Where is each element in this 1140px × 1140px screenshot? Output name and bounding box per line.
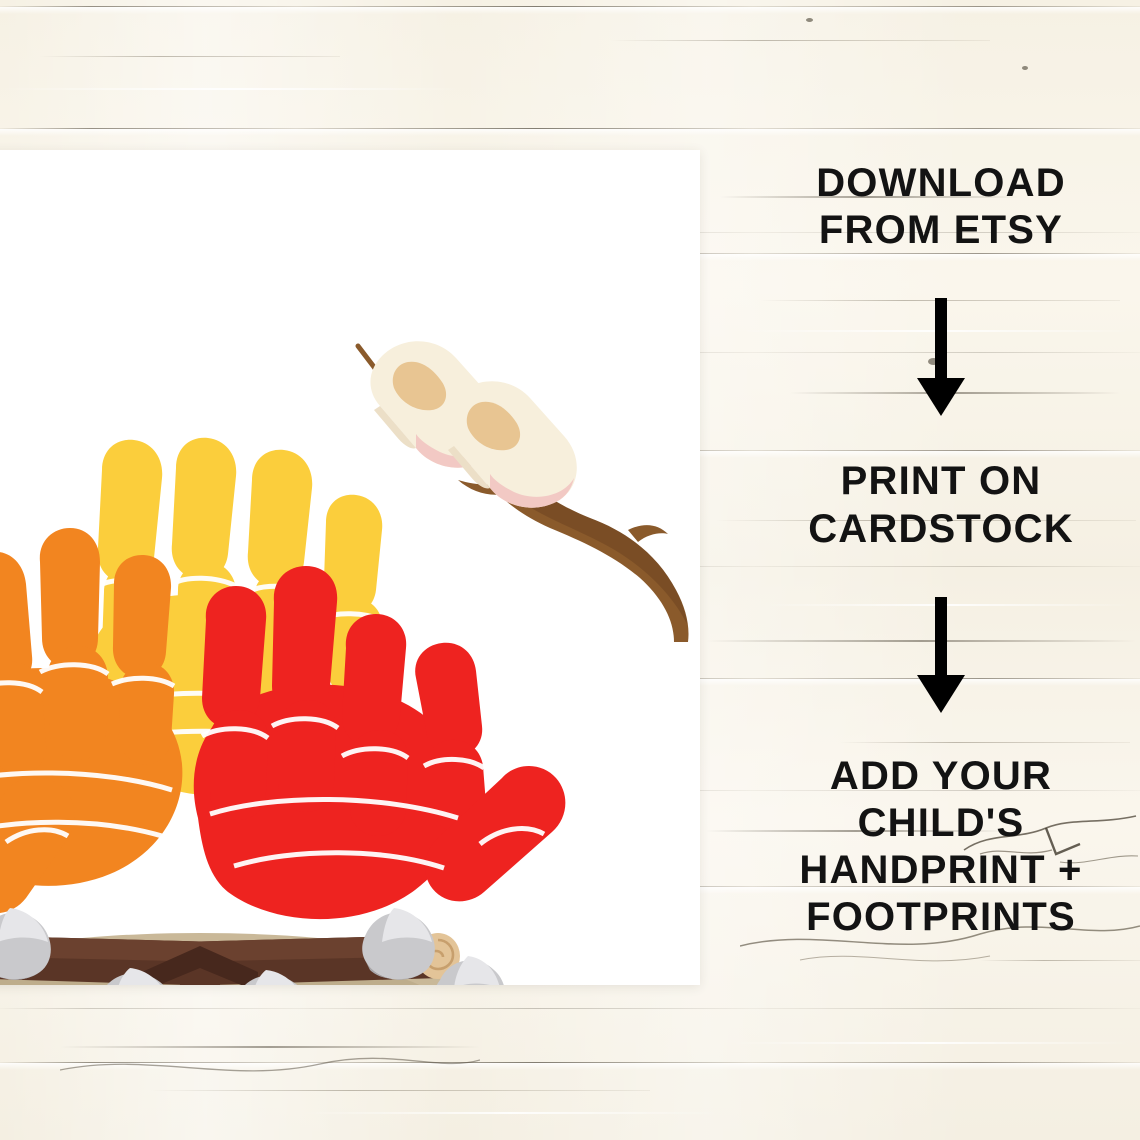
handprint-red [194,566,566,919]
plank-highlight [0,1063,1140,1070]
step-3-line-2: CHILD'S [742,800,1140,847]
step-3-line-4: FOOTPRINTS [742,894,1140,941]
step-1-line-2: FROM ETSY [742,207,1140,254]
handprint-orange [0,528,182,913]
arrow-2 [742,597,1140,715]
campfire-handprint-artwork [0,150,700,985]
printable-card[interactable]: OU E e AY [0,150,700,985]
plank-highlight [0,129,1140,136]
stick-twig [628,525,668,542]
step-2-text: PRINT ON CARDSTOCK [742,458,1140,552]
how-it-works-steps: DOWNLOAD FROM ETSY PRINT ON CARDSTOCK AD… [742,150,1140,942]
step-3-text: ADD YOUR CHILD'S HANDPRINT + FOOTPRINTS [742,753,1140,942]
step-3-line-3: HANDPRINT + [742,847,1140,894]
arrow-down-icon [911,298,971,418]
campfire-base [0,908,505,985]
marshmallow-2 [444,381,576,507]
arrow-down-icon [911,597,971,715]
wood-speck [806,18,813,22]
step-1-line-1: DOWNLOAD [742,160,1140,207]
arrow-1 [742,298,1140,418]
step-3-line-1: ADD YOUR [742,753,1140,800]
wood-speck [1022,66,1028,70]
step-1-text: DOWNLOAD FROM ETSY [742,160,1140,254]
step-2-line-1: PRINT ON [742,458,1140,505]
plank-seam [0,1008,1140,1009]
plank-highlight [0,7,1140,14]
step-2-line-2: CARDSTOCK [742,506,1140,553]
listing-image-canvas: OU E e AY [0,0,1140,1140]
